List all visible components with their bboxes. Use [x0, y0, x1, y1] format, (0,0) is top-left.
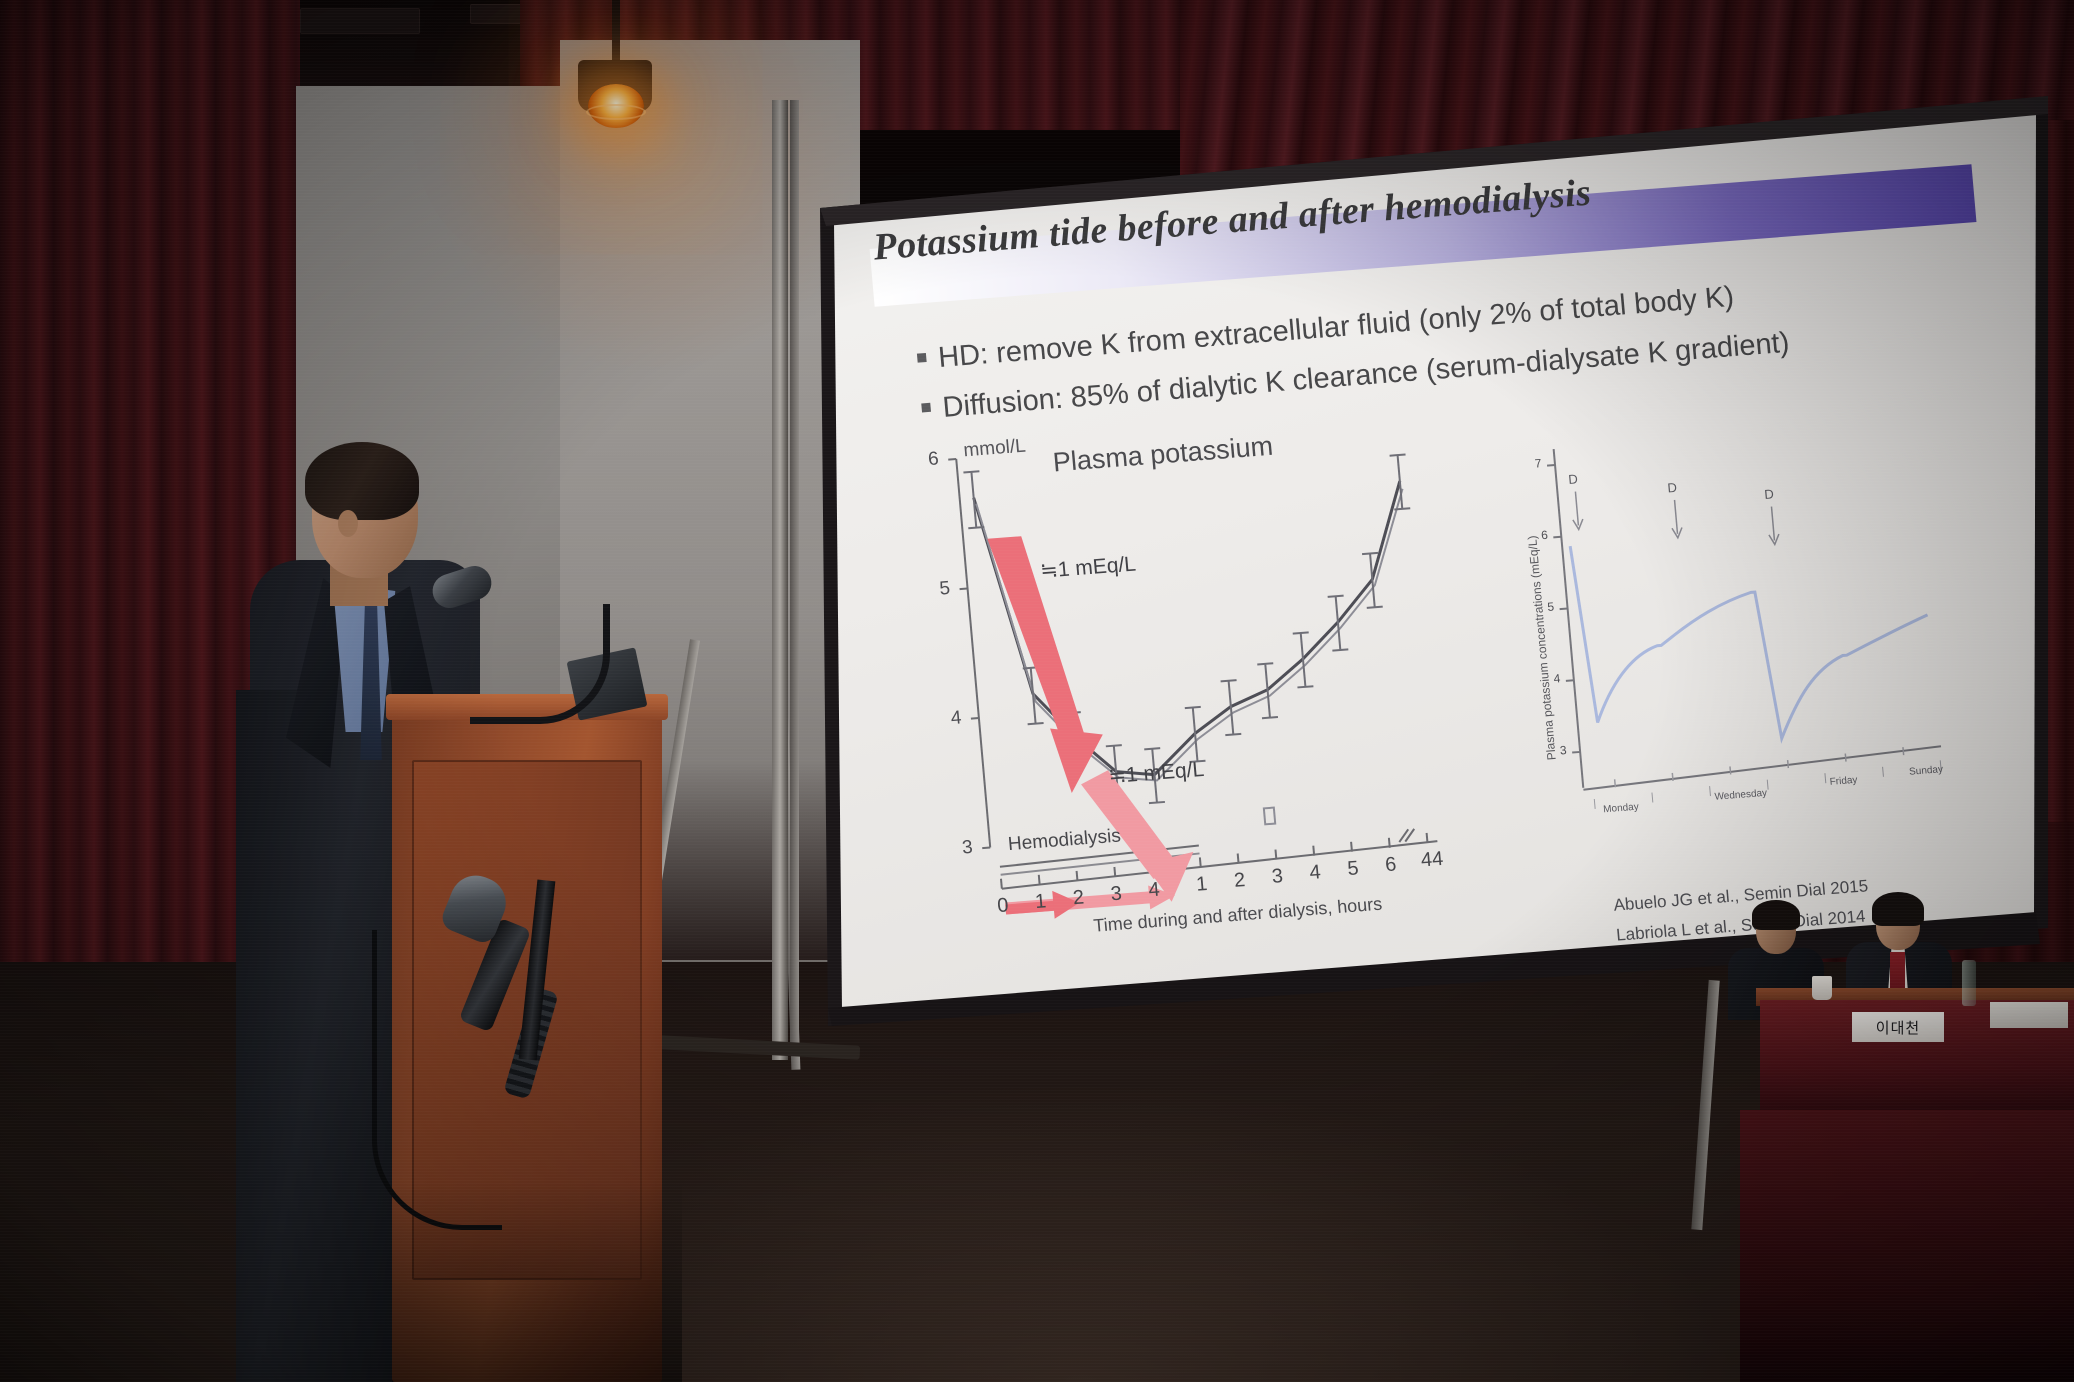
panelist-hair [1872, 892, 1924, 926]
screen-stand-pole-secondary [790, 100, 799, 1050]
paper-cup [1812, 976, 1832, 1000]
spotlight-arm [612, 0, 620, 66]
presentation-slide: Potassium tide before and after hemodial… [813, 96, 2048, 1026]
y-tick-label: 5 [939, 578, 951, 601]
panelist-nameplate-secondary [1990, 1002, 2068, 1028]
y-tick-label: 5 [1547, 600, 1555, 614]
x-tick-label: 4 [1309, 861, 1322, 885]
x-tick-label: 44 [1420, 848, 1444, 873]
lecture-hall-scene: Potassium tide before and after hemodial… [0, 0, 2074, 1382]
x-tick-label: 2 [1233, 869, 1246, 893]
chart-weekly-potassium: Plasma potassium concentrations (mEq/L) … [1493, 406, 2018, 862]
x-tick-label: 5 [1347, 857, 1360, 881]
x-tick-label: 3 [1110, 883, 1123, 907]
panelist-hair [1752, 900, 1800, 930]
dialysis-marker-label: D [1667, 480, 1678, 496]
bullet-square-icon [921, 403, 931, 413]
y-tick-label: 3 [961, 837, 973, 860]
x-tick-label: 1 [1034, 890, 1047, 914]
dialysis-marker-label: D [1568, 471, 1579, 487]
speaker-ear [338, 510, 358, 537]
y-tick-label: 4 [1553, 671, 1561, 685]
y-tick-label: 6 [927, 448, 939, 471]
slide-figure-area: mmol/L Plasma potassium 6 5 4 3 ≒1 mEq/L… [881, 362, 2048, 949]
y-tick-label: 7 [1534, 456, 1542, 470]
y-tick-label: 3 [1559, 743, 1567, 757]
chart-plasma-potassium: mmol/L Plasma potassium 6 5 4 3 ≒1 mEq/L… [901, 406, 1502, 937]
panel-table-skirt [1740, 1110, 2074, 1382]
floor-reflection [640, 1082, 1740, 1382]
x-tick-label: Friday [1829, 775, 1858, 788]
y-tick-label: 4 [950, 707, 962, 730]
chart-left-svg [901, 406, 1502, 937]
x-tick-label: 4 [1148, 879, 1161, 903]
x-tick-label: 0 [996, 894, 1009, 918]
bullet-square-icon [917, 353, 927, 363]
screen-stand-pole [772, 100, 788, 1060]
x-tick-label: 6 [1384, 853, 1397, 877]
spotlight-ring [586, 104, 646, 120]
x-tick-label: 2 [1072, 886, 1085, 910]
dialysis-marker-label: D [1764, 486, 1775, 502]
panelist-nameplate: 이대천 [1852, 1012, 1944, 1042]
projection-screen[interactable]: Potassium tide before and after hemodial… [800, 96, 2048, 1026]
x-tick-label: 1 [1195, 873, 1208, 897]
speaker-hair [305, 442, 419, 520]
ceiling-vent [300, 8, 420, 34]
y-tick-label: 6 [1540, 528, 1548, 542]
water-bottle [1962, 960, 1976, 1006]
x-tick-label: 3 [1271, 865, 1284, 889]
